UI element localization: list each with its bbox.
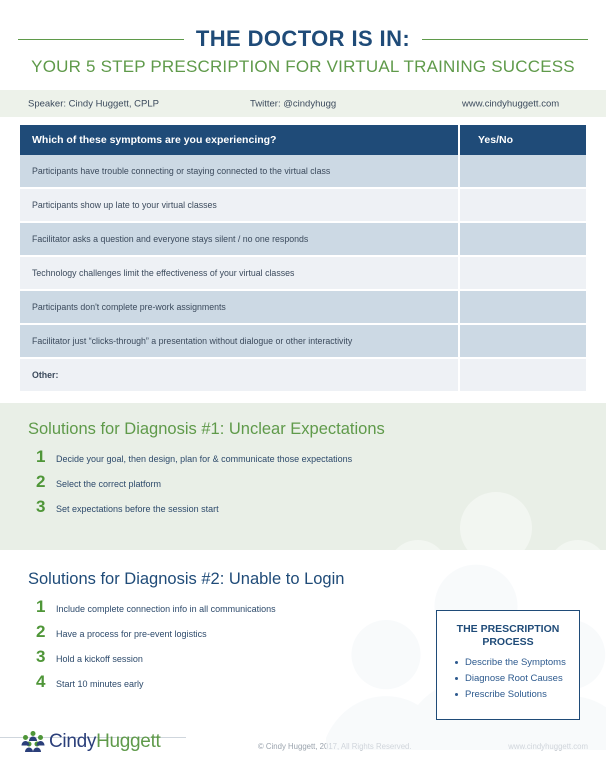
prescription-title-line2: PROCESS	[445, 636, 571, 649]
title-rule-left	[18, 39, 184, 40]
yesno-answer-cell[interactable]	[459, 324, 586, 358]
page-subtitle: YOUR 5 STEP PRESCRIPTION FOR VIRTUAL TRA…	[0, 57, 606, 77]
prescription-list-item: Diagnose Root Causes	[455, 673, 571, 684]
logo-text-huggett: Huggett	[96, 731, 160, 752]
section-1-content: Solutions for Diagnosis #1: Unclear Expe…	[0, 403, 606, 531]
section-diagnosis-2: Solutions for Diagnosis #2: Unable to Lo…	[0, 550, 606, 750]
step-number: 1	[36, 448, 47, 465]
section-1-heading: Solutions for Diagnosis #1: Unclear Expe…	[28, 420, 582, 439]
table-row: Technology challenges limit the effectiv…	[20, 256, 586, 290]
table-row: Participants have trouble connecting or …	[20, 155, 586, 188]
symptom-cell: Participants don't complete pre-work ass…	[20, 290, 459, 324]
symptom-cell: Technology challenges limit the effectiv…	[20, 256, 459, 290]
footer-copyright: © Cindy Huggett, 2017, All Rights Reserv…	[258, 742, 412, 751]
yesno-answer-cell[interactable]	[459, 155, 586, 188]
step-text: Start 10 minutes early	[56, 679, 144, 690]
step-text: Select the correct platform	[56, 479, 161, 490]
section-diagnosis-1: Solutions for Diagnosis #1: Unclear Expe…	[0, 403, 606, 550]
column-header-yesno: Yes/No	[459, 125, 586, 155]
yesno-answer-cell[interactable]	[459, 256, 586, 290]
step-number: 2	[36, 473, 47, 490]
prescription-item-list: Describe the SymptomsDiagnose Root Cause…	[445, 657, 571, 700]
step-number: 3	[36, 498, 47, 515]
speaker-name: Speaker: Cindy Huggett, CPLP	[28, 98, 159, 109]
step-text: Have a process for pre-event logistics	[56, 629, 207, 640]
symptoms-table: Which of these symptoms are you experien…	[20, 125, 586, 393]
page-header: THE DOCTOR IS IN: YOUR 5 STEP PRESCRIPTI…	[0, 0, 606, 77]
symptom-cell: Facilitator just “clicks-through” a pres…	[20, 324, 459, 358]
step-text: Decide your goal, then design, plan for …	[56, 454, 352, 465]
prescription-box-title: THE PRESCRIPTION PROCESS	[445, 623, 571, 649]
yesno-answer-cell[interactable]	[459, 222, 586, 256]
speaker-info-bar: Speaker: Cindy Huggett, CPLP Twitter: @c…	[0, 90, 606, 117]
symptom-cell: Participants have trouble connecting or …	[20, 155, 459, 188]
title-rule-right	[422, 39, 588, 40]
yesno-answer-cell[interactable]	[459, 358, 586, 392]
step-number: 3	[36, 648, 47, 665]
page-footer: CindyHuggett © Cindy Huggett, 2017, All …	[0, 725, 606, 769]
step-text: Include complete connection info in all …	[56, 604, 276, 615]
table-row: Participants don't complete pre-work ass…	[20, 290, 586, 324]
table-header-row: Which of these symptoms are you experien…	[20, 125, 586, 155]
step-number: 1	[36, 598, 47, 615]
section-1-steps: 1Decide your goal, then design, plan for…	[28, 448, 582, 515]
speaker-twitter: Twitter: @cindyhugg	[250, 98, 336, 109]
logo-wordmark: CindyHuggett	[49, 731, 161, 753]
step-text: Hold a kickoff session	[56, 654, 143, 665]
symptom-cell: Participants show up late to your virtua…	[20, 188, 459, 222]
prescription-item-label: Prescribe Solutions	[465, 689, 547, 700]
speaker-website: www.cindyhuggett.com	[462, 98, 559, 109]
step-text: Set expectations before the session star…	[56, 504, 219, 515]
step-number: 2	[36, 623, 47, 640]
yesno-answer-cell[interactable]	[459, 290, 586, 324]
brand-logo: CindyHuggett	[20, 729, 161, 755]
symptoms-table-wrapper: Which of these symptoms are you experien…	[20, 125, 586, 393]
prescription-list-item: Prescribe Solutions	[455, 689, 571, 700]
step-number: 4	[36, 673, 47, 690]
yesno-answer-cell[interactable]	[459, 188, 586, 222]
logo-text-cindy: Cindy	[49, 731, 96, 752]
title-row: THE DOCTOR IS IN:	[0, 26, 606, 52]
symptom-cell: Other:	[20, 358, 459, 392]
worksheet-page: THE DOCTOR IS IN: YOUR 5 STEP PRESCRIPTI…	[0, 0, 606, 769]
section-2-heading: Solutions for Diagnosis #2: Unable to Lo…	[28, 570, 582, 589]
people-tree-logo-icon	[20, 729, 46, 755]
table-row: Participants show up late to your virtua…	[20, 188, 586, 222]
footer-website: www.cindyhuggett.com	[508, 742, 588, 751]
table-row: Other:	[20, 358, 586, 392]
bullet-icon	[455, 693, 458, 696]
column-header-symptom: Which of these symptoms are you experien…	[20, 125, 459, 155]
prescription-process-box: THE PRESCRIPTION PROCESS Describe the Sy…	[436, 610, 580, 720]
solution-step: 1Decide your goal, then design, plan for…	[28, 448, 582, 465]
symptom-cell: Facilitator asks a question and everyone…	[20, 222, 459, 256]
page-title: THE DOCTOR IS IN:	[196, 26, 410, 52]
table-row: Facilitator just “clicks-through” a pres…	[20, 324, 586, 358]
prescription-title-line1: THE PRESCRIPTION	[445, 623, 571, 636]
prescription-list-item: Describe the Symptoms	[455, 657, 571, 668]
table-row: Facilitator asks a question and everyone…	[20, 222, 586, 256]
solution-step: 3Set expectations before the session sta…	[28, 498, 582, 515]
bullet-icon	[455, 677, 458, 680]
bullet-icon	[455, 661, 458, 664]
prescription-item-label: Diagnose Root Causes	[465, 673, 563, 684]
prescription-item-label: Describe the Symptoms	[465, 657, 566, 668]
solution-step: 2Select the correct platform	[28, 473, 582, 490]
